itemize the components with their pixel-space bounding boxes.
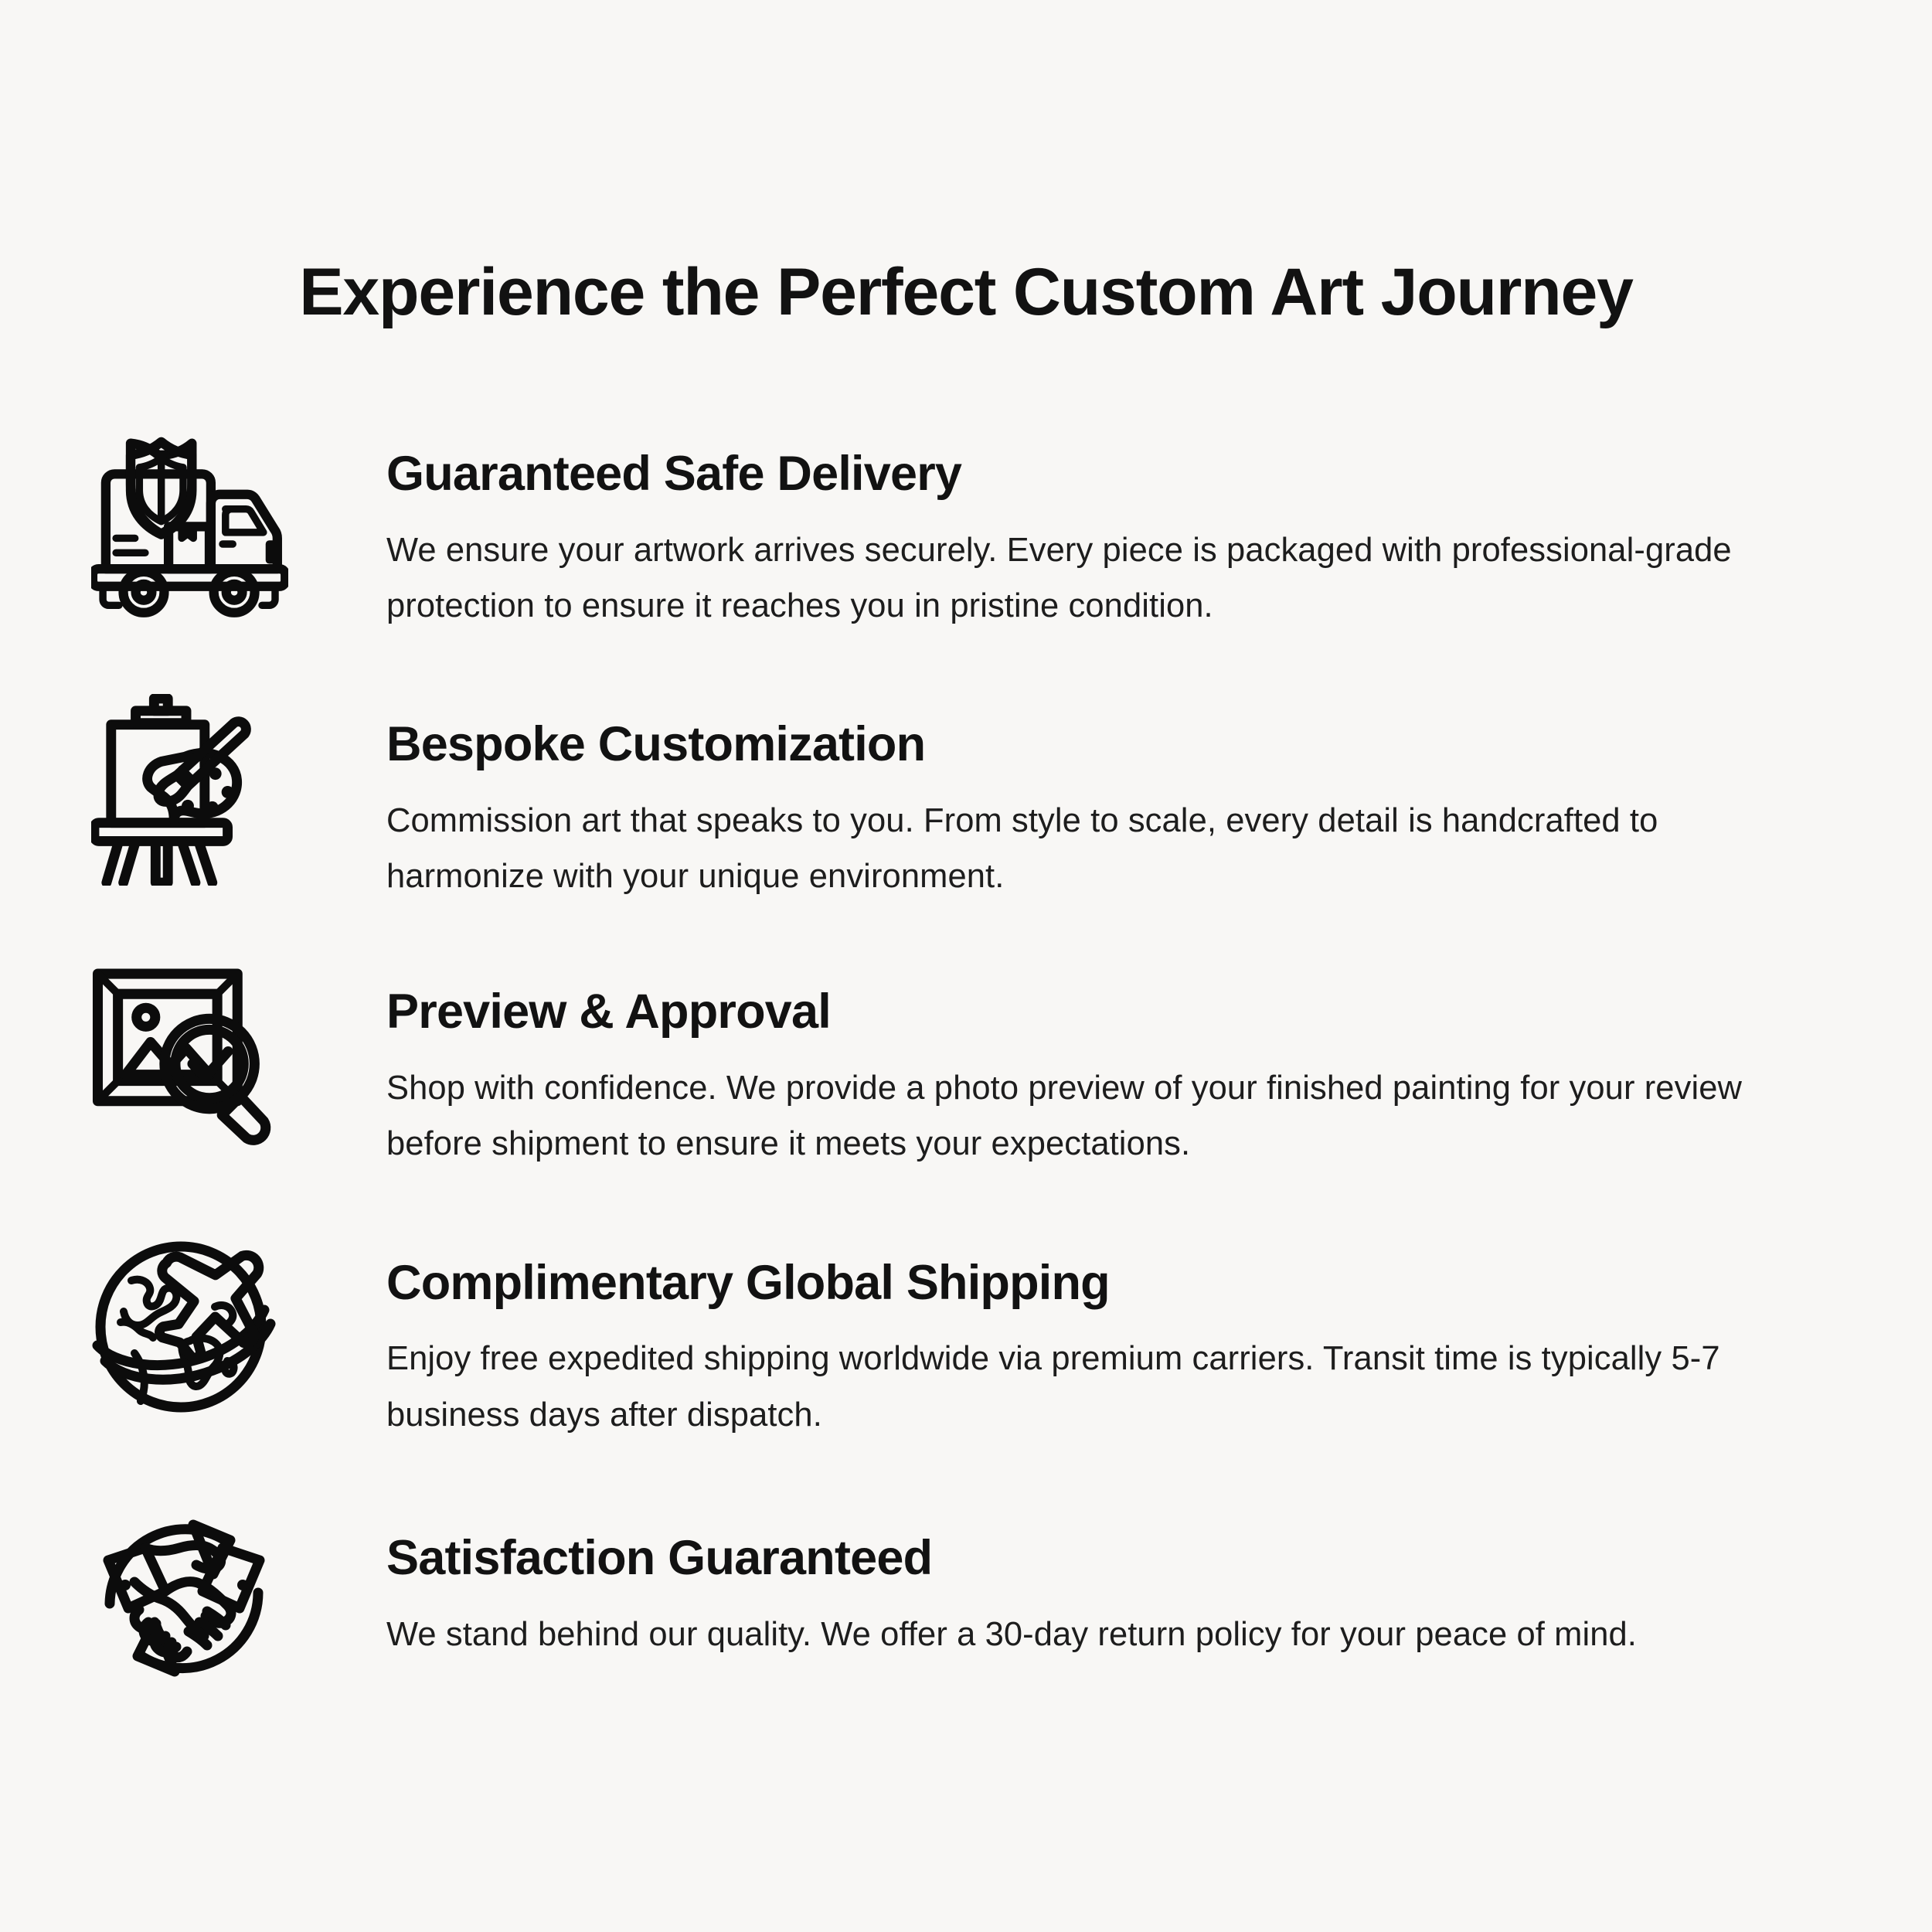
- feature-text-block: Guaranteed Safe Delivery We ensure your …: [300, 430, 1901, 634]
- feature-list: Guaranteed Safe Delivery We ensure your …: [0, 430, 1932, 1757]
- feature-heading: Complimentary Global Shipping: [386, 1256, 1901, 1311]
- feature-text-block: Bespoke Customization Commission art tha…: [300, 694, 1901, 904]
- feature-description: Commission art that speaks to you. From …: [386, 793, 1685, 904]
- feature-item: Satisfaction Guaranteed We stand behind …: [0, 1503, 1932, 1696]
- handshake-return-arrows-icon: [91, 1503, 300, 1696]
- page-title: Experience the Perfect Custom Art Journe…: [0, 255, 1932, 329]
- feature-heading: Guaranteed Safe Delivery: [386, 447, 1901, 502]
- feature-item: Preview & Approval Shop with confidence.…: [0, 964, 1932, 1172]
- feature-heading: Preview & Approval: [386, 985, 1901, 1040]
- framed-picture-magnifier-check-icon: [91, 964, 300, 1158]
- easel-palette-brush-icon: [91, 694, 300, 887]
- feature-highlights-page: Experience the Perfect Custom Art Journe…: [0, 0, 1932, 1932]
- feature-description: We stand behind our quality. We offer a …: [386, 1607, 1878, 1662]
- feature-item: Complimentary Global Shipping Enjoy free…: [0, 1233, 1932, 1443]
- feature-heading: Bespoke Customization: [386, 717, 1901, 773]
- feature-item: Bespoke Customization Commission art tha…: [0, 694, 1932, 904]
- feature-description: Shop with confidence. We provide a photo…: [386, 1060, 1770, 1172]
- feature-description: We ensure your artwork arrives securely.…: [386, 522, 1777, 634]
- feature-heading: Satisfaction Guaranteed: [386, 1531, 1901, 1587]
- feature-item: Guaranteed Safe Delivery We ensure your …: [0, 430, 1932, 634]
- delivery-truck-shield-icon: [91, 430, 300, 623]
- feature-text-block: Preview & Approval Shop with confidence.…: [300, 964, 1901, 1172]
- globe-airplane-icon: [91, 1233, 300, 1426]
- feature-text-block: Satisfaction Guaranteed We stand behind …: [300, 1503, 1901, 1662]
- feature-description: Enjoy free expedited shipping worldwide …: [386, 1331, 1777, 1442]
- feature-text-block: Complimentary Global Shipping Enjoy free…: [300, 1233, 1901, 1443]
